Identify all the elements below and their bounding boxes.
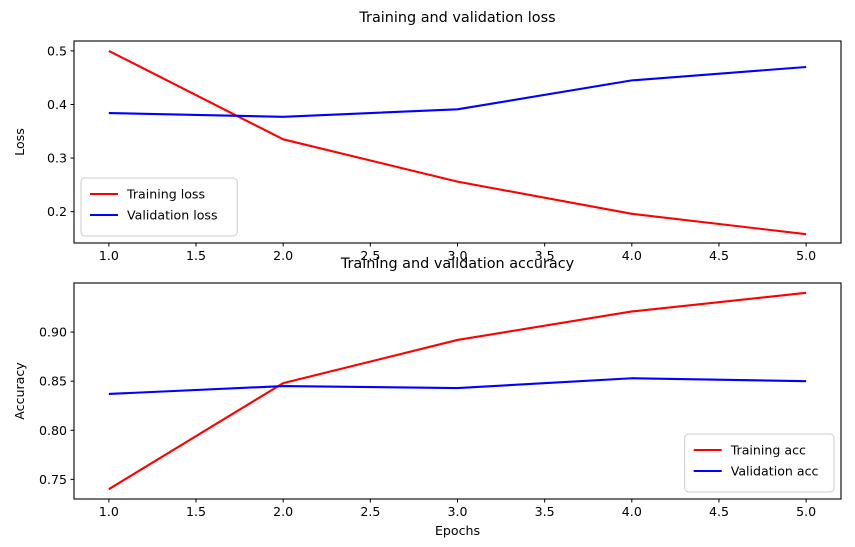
matplotlib-figure: Training and validation loss 0.20.30.40.… — [0, 0, 855, 547]
x-tick-label: 4.5 — [709, 504, 729, 519]
loss-chart-title: Training and validation loss — [358, 10, 555, 26]
x-tick-label: 5.0 — [796, 248, 816, 263]
x-tick-label: 2.5 — [360, 504, 380, 519]
x-tick-label: 3.5 — [535, 504, 555, 519]
y-tick-label: 0.75 — [39, 472, 67, 487]
y-tick-label: 0.5 — [47, 43, 67, 58]
y-tick-label: 0.3 — [47, 151, 67, 166]
x-tick-label: 1.5 — [186, 248, 206, 263]
accuracy-y-axis-ticks: 0.750.800.850.90 — [39, 325, 74, 487]
y-tick-label: 0.2 — [47, 204, 67, 219]
y-tick-label: 0.80 — [39, 423, 67, 438]
legend-label: Validation acc — [731, 464, 819, 479]
accuracy-legend: Training accValidation acc — [685, 434, 834, 492]
x-tick-label: 3.0 — [447, 504, 467, 519]
x-tick-label: 1.5 — [186, 504, 206, 519]
accuracy-x-axis-ticks: 1.01.52.02.53.03.54.04.55.0 — [99, 499, 816, 519]
legend-label: Training loss — [126, 187, 205, 202]
series-line — [109, 67, 806, 117]
x-tick-label: 1.0 — [99, 248, 119, 263]
accuracy-chart-title: Training and validation accuracy — [340, 256, 575, 272]
loss-legend: Training lossValidation loss — [81, 178, 237, 236]
x-tick-label: 4.0 — [622, 504, 642, 519]
legend-label: Training acc — [730, 443, 806, 458]
x-tick-label: 2.0 — [273, 248, 293, 263]
x-tick-label: 4.5 — [709, 248, 729, 263]
x-tick-label: 5.0 — [796, 504, 816, 519]
x-tick-label: 1.0 — [99, 504, 119, 519]
accuracy-y-axis-label: Accuracy — [12, 362, 27, 420]
y-tick-label: 0.90 — [39, 325, 67, 340]
loss-y-axis-ticks: 0.20.30.40.5 — [47, 43, 74, 219]
y-tick-label: 0.4 — [47, 97, 67, 112]
y-tick-label: 0.85 — [39, 374, 67, 389]
x-tick-label: 2.0 — [273, 504, 293, 519]
accuracy-subplot: Training and validation accuracy 0.750.8… — [12, 256, 841, 538]
x-tick-label: 4.0 — [622, 248, 642, 263]
figure-canvas: Training and validation loss 0.20.30.40.… — [0, 0, 855, 547]
series-line — [109, 378, 806, 394]
loss-subplot: Training and validation loss 0.20.30.40.… — [12, 10, 841, 263]
loss-y-axis-label: Loss — [12, 128, 27, 156]
legend-label: Validation loss — [127, 208, 218, 223]
accuracy-x-axis-label: Epochs — [435, 523, 480, 538]
